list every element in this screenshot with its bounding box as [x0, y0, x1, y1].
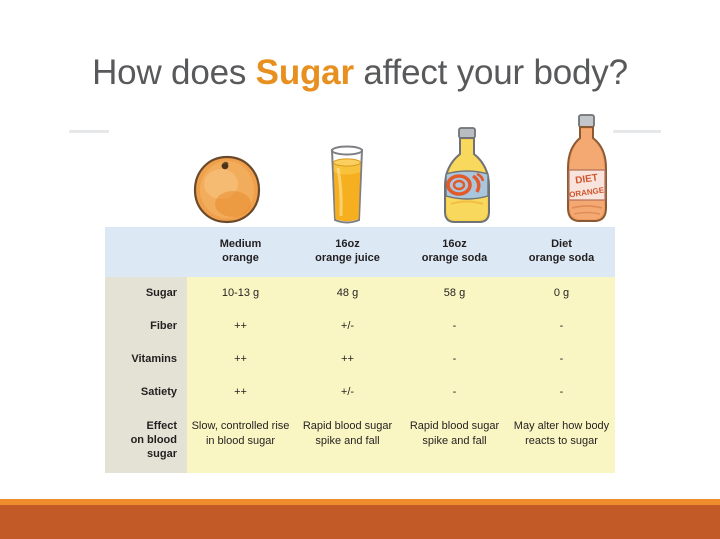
cell-effect-medium-orange: Slow, controlled rise in blood sugar: [187, 409, 294, 473]
bottom-accent-bar-dark: [0, 505, 720, 539]
table-corner-cell: [105, 227, 187, 277]
cell-sugar-orange-soda: 58 g: [401, 277, 508, 310]
table-row-fiber: Fiber ++ +/- - -: [105, 310, 615, 343]
comparison-table: Medium orange 16oz orange juice 16oz ora…: [105, 227, 615, 473]
cell-sugar-diet-orange-soda: 0 g: [508, 277, 615, 310]
row-label-effect-on-blood-sugar: Effect on blood sugar: [105, 409, 187, 473]
column-header-orange-soda: 16oz orange soda: [401, 227, 508, 277]
column-header-line2: orange: [222, 252, 259, 264]
cell-sugar-medium-orange: 10-13 g: [187, 277, 294, 310]
cell-satiety-orange-juice: +/-: [294, 376, 401, 409]
cell-effect-orange-juice: Rapid blood sugar spike and fall: [294, 409, 401, 473]
column-header-line2: orange juice: [315, 252, 380, 264]
cell-fiber-medium-orange: ++: [187, 310, 294, 343]
row-label-line2: on blood: [131, 434, 177, 446]
cell-fiber-orange-soda: -: [401, 310, 508, 343]
column-header-diet-orange-soda: Diet orange soda: [508, 227, 615, 277]
title-area: How does Sugar affect your body?: [0, 52, 720, 94]
row-label-vitamins: Vitamins: [105, 343, 187, 376]
page-title-suffix: affect your body?: [354, 53, 628, 92]
column-header-line2: orange soda: [422, 252, 487, 264]
column-header-line1: 16oz: [442, 238, 466, 250]
diet-orange-soda-bottle-illustration: DIET ORANGE: [527, 112, 647, 228]
row-label-line3: sugar: [147, 448, 177, 460]
cell-effect-diet-orange-soda: May alter how body reacts to sugar: [508, 409, 615, 473]
table-row-vitamins: Vitamins ++ ++ - -: [105, 343, 615, 376]
cell-effect-orange-soda: Rapid blood sugar spike and fall: [401, 409, 508, 473]
page-title-accent: Sugar: [256, 53, 354, 92]
row-label-fiber: Fiber: [105, 310, 187, 343]
cell-vitamins-medium-orange: ++: [187, 343, 294, 376]
cell-vitamins-orange-soda: -: [401, 343, 508, 376]
row-label-satiety: Satiety: [105, 376, 187, 409]
page-title: How does Sugar affect your body?: [0, 52, 720, 94]
column-header-line1: Medium: [220, 238, 262, 250]
table-row-effect-on-blood-sugar: Effect on blood sugar Slow, controlled r…: [105, 409, 615, 473]
orange-juice-glass-illustration: [287, 136, 407, 228]
table-header-row: Medium orange 16oz orange juice 16oz ora…: [105, 227, 615, 277]
cell-vitamins-orange-juice: ++: [294, 343, 401, 376]
cell-fiber-orange-juice: +/-: [294, 310, 401, 343]
cell-satiety-medium-orange: ++: [187, 376, 294, 409]
column-header-line1: 16oz: [335, 238, 359, 250]
table-body: Sugar 10-13 g 48 g 58 g 0 g Fiber ++ +/-…: [105, 277, 615, 473]
table-row-sugar: Sugar 10-13 g 48 g 58 g 0 g: [105, 277, 615, 310]
cell-satiety-orange-soda: -: [401, 376, 508, 409]
cell-fiber-diet-orange-soda: -: [508, 310, 615, 343]
divider-left: [69, 130, 109, 133]
row-label-sugar: Sugar: [105, 277, 187, 310]
column-header-medium-orange: Medium orange: [187, 227, 294, 277]
slide-canvas: How does Sugar affect your body?: [0, 0, 720, 539]
row-label-line1: Effect: [146, 420, 177, 432]
table-header: Medium orange 16oz orange juice 16oz ora…: [105, 227, 615, 277]
cell-sugar-orange-juice: 48 g: [294, 277, 401, 310]
orange-soda-bottle-illustration: [407, 124, 527, 228]
orange-fruit-illustration: [167, 150, 287, 228]
page-title-prefix: How does: [92, 53, 256, 92]
cell-vitamins-diet-orange-soda: -: [508, 343, 615, 376]
cell-satiety-diet-orange-soda: -: [508, 376, 615, 409]
table-row-satiety: Satiety ++ +/- - -: [105, 376, 615, 409]
column-header-orange-juice: 16oz orange juice: [294, 227, 401, 277]
column-header-line2: orange soda: [529, 252, 594, 264]
column-header-line1: Diet: [551, 238, 572, 250]
illustration-row: DIET ORANGE: [105, 110, 615, 228]
